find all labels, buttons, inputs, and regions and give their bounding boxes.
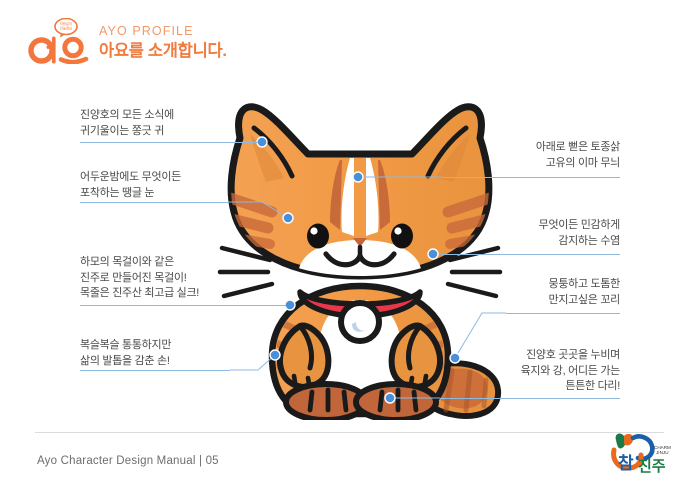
annotation-forehead: 아래로 뻗은 토종삵 고유의 이마 무늬 (415, 140, 620, 171)
annotation-text: 진양호 곳곳을 누비며 육지와 강, 어디든 가는 튼튼한 다리! (415, 348, 620, 395)
annotation-eye: 어두운밤에도 무엇이든 포착하는 땡글 눈 (80, 170, 290, 201)
page-header: 저랑같이 안놀래요 AYO PROFILE 아요를 소개합니다. (0, 0, 699, 80)
header-titles: AYO PROFILE 아요를 소개합니다. (99, 24, 227, 61)
footer-caption: Ayo Character Design Manual | 05 (37, 455, 219, 467)
annotation-legs: 진양호 곳곳을 누비며 육지와 강, 어디든 가는 튼튼한 다리! (415, 348, 620, 395)
annotation-ear: 진양호의 모든 소식에 귀기울이는 쫑긋 귀 (80, 108, 290, 139)
annotation-text: 뭉퉁하고 도톰한 만지고싶은 꼬리 (415, 277, 620, 308)
annotation-text: 하모의 목걸이와 같은 진주로 만들어진 목걸이! 목줄은 진주산 최고급 실크… (80, 255, 290, 302)
ayo-logo-icon: 저랑같이 안놀래요 (28, 18, 92, 64)
annotation-rule (80, 370, 230, 371)
jinju-city-logo-icon: CHARM JINJU 참 진주 (604, 428, 676, 474)
annotation-paw: 복슬복슬 통통하지만 삶의 발톱을 감춘 손! (80, 338, 290, 369)
annotation-rule (80, 142, 258, 143)
annotation-rule (442, 254, 620, 255)
annotation-tail: 뭉퉁하고 도톰한 만지고싶은 꼬리 (415, 277, 620, 308)
annotation-text: 아래로 뻗은 토종삵 고유의 이마 무늬 (415, 140, 620, 171)
annotation-rule (440, 398, 620, 399)
annotation-text: 복슬복슬 통통하지만 삶의 발톱을 감춘 손! (80, 338, 290, 369)
annotation-necklace: 하모의 목걸이와 같은 진주로 만들어진 목걸이! 목줄은 진주산 최고급 실크… (80, 255, 290, 302)
annotation-text: 진양호의 모든 소식에 귀기울이는 쫑긋 귀 (80, 108, 290, 139)
page-root: 저랑같이 안놀래요 AYO PROFILE 아요를 소개합니다. (0, 0, 699, 483)
annotation-whisker: 무엇이든 민감하게 감지하는 수염 (415, 218, 620, 249)
annotation-rule (506, 313, 620, 314)
svg-text:JINJU: JINJU (656, 450, 669, 455)
annotation-rule (442, 177, 620, 178)
annotation-rule (80, 305, 286, 306)
header-eng-title: AYO PROFILE (99, 24, 227, 38)
svg-text:안놀래요: 안놀래요 (60, 26, 72, 31)
annotation-text: 어두운밤에도 무엇이든 포착하는 땡글 눈 (80, 170, 290, 201)
annotation-text: 무엇이든 민감하게 감지하는 수염 (415, 218, 620, 249)
svg-text:진주: 진주 (638, 458, 666, 474)
svg-text:저랑같이: 저랑같이 (60, 21, 72, 26)
annotation-rule (80, 202, 228, 203)
header-kor-title: 아요를 소개합니다. (99, 41, 227, 61)
svg-text:참: 참 (618, 453, 634, 473)
footer-divider (35, 432, 664, 433)
